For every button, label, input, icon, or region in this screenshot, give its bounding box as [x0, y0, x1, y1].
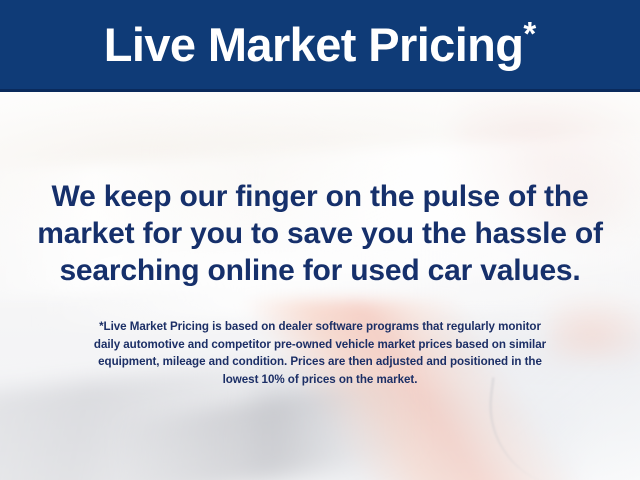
fineprint-block: *Live Market Pricing is based on dealer …: [36, 318, 604, 388]
page-title: Live Market Pricing*: [104, 17, 536, 72]
header-banner: Live Market Pricing*: [0, 0, 640, 92]
live-market-pricing-banner: Live Market Pricing* We keep our finger …: [0, 0, 640, 480]
page-title-asterisk: *: [523, 15, 536, 52]
fineprint-line-3: equipment, mileage and condition. Prices…: [36, 353, 604, 371]
fineprint-line-4: lowest 10% of prices on the market.: [36, 371, 604, 389]
headline-block: We keep our finger on the pulse of the m…: [0, 178, 640, 289]
headline-line-2: market for you to save you the hassle of: [0, 215, 640, 252]
page-title-text: Live Market Pricing: [104, 18, 524, 71]
fineprint-line-1: *Live Market Pricing is based on dealer …: [36, 318, 604, 336]
headline-line-3: searching online for used car values.: [0, 252, 640, 289]
headline-line-1: We keep our finger on the pulse of the: [0, 178, 640, 215]
fineprint-line-2: daily automotive and competitor pre-owne…: [36, 336, 604, 354]
